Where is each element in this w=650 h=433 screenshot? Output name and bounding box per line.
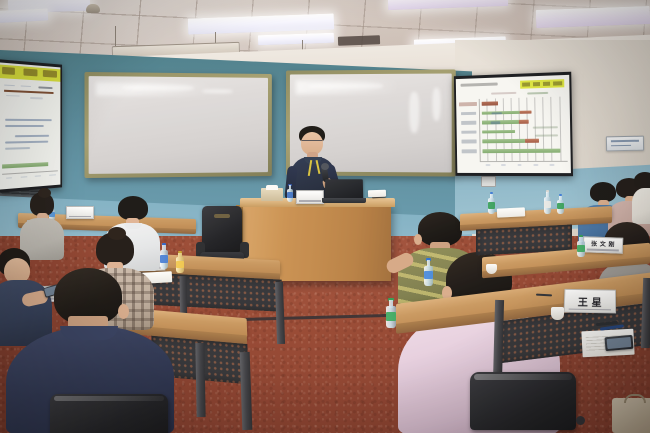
bottle-label bbox=[577, 245, 585, 252]
gantt-tick-label bbox=[486, 164, 490, 165]
bottle-label bbox=[557, 203, 564, 209]
slide-small-text bbox=[4, 84, 14, 86]
gantt-row-label bbox=[461, 149, 476, 153]
gantt-bar bbox=[482, 139, 525, 143]
slide-tick-label bbox=[49, 174, 56, 176]
floor-bag bbox=[612, 398, 650, 433]
smoke-detector-icon bbox=[86, 4, 100, 13]
name-card-subtitle bbox=[587, 249, 619, 252]
whiteboard-glare bbox=[432, 87, 440, 121]
slide-tick-label bbox=[21, 176, 27, 178]
gantt-y-axis bbox=[479, 99, 481, 162]
slide-header-band bbox=[0, 65, 60, 82]
name-card-right: 王 星 bbox=[564, 289, 617, 314]
slide-tick-label bbox=[35, 175, 41, 177]
attendee-collar bbox=[60, 326, 118, 340]
whiteboard-left-surface bbox=[89, 76, 268, 174]
gantt-row-label bbox=[461, 121, 476, 125]
attendee-hair bbox=[418, 212, 462, 246]
chair-caster bbox=[576, 416, 585, 425]
attendee-hair bbox=[118, 196, 148, 220]
gantt-row-label bbox=[461, 130, 476, 134]
slide-rule-bar bbox=[4, 90, 53, 94]
slide-header-segment bbox=[2, 67, 15, 75]
left-projection-screen bbox=[0, 59, 62, 193]
slide-small-text bbox=[38, 86, 52, 89]
gantt-row-label bbox=[461, 140, 476, 144]
slide-body-line bbox=[5, 125, 44, 127]
whiteboard-left bbox=[84, 72, 271, 178]
water-bottle bbox=[386, 298, 396, 328]
bottle-label bbox=[386, 312, 396, 321]
slide-small-text bbox=[21, 85, 31, 87]
classroom-scene: 何 常 bbox=[0, 0, 650, 433]
chair-backrest[interactable] bbox=[202, 206, 242, 252]
gantt-bar-overrun bbox=[519, 120, 529, 124]
attendee-ear bbox=[118, 304, 129, 319]
phone-screen bbox=[607, 337, 631, 350]
left-slide-content bbox=[0, 62, 60, 189]
right-projection-screen bbox=[454, 72, 573, 176]
wall-sign-line bbox=[611, 144, 631, 146]
ceiling-open-tile bbox=[338, 35, 380, 45]
slide-small-text bbox=[30, 97, 43, 99]
fixture-rod bbox=[115, 26, 116, 46]
tissue-sheet bbox=[266, 185, 277, 190]
laptop-screen bbox=[325, 179, 363, 200]
chair-back-handle bbox=[214, 214, 230, 218]
bottle-label bbox=[176, 261, 184, 268]
gantt-bar-overrun bbox=[525, 139, 539, 143]
notebook-back-right bbox=[497, 207, 525, 217]
gantt-bar bbox=[482, 149, 560, 153]
attendee-hair-bun bbox=[108, 227, 126, 240]
name-card-podium bbox=[296, 190, 324, 204]
gantt-annotation bbox=[533, 126, 559, 128]
whiteboard-glare bbox=[201, 89, 233, 94]
name-card-right-text: 王 星 bbox=[578, 293, 603, 308]
slide-body-line bbox=[15, 134, 49, 137]
wall-sign-line bbox=[611, 140, 640, 142]
whiteboard-glare bbox=[309, 83, 383, 89]
floor-bag-strap bbox=[624, 394, 646, 403]
microphone-head-icon bbox=[321, 163, 329, 170]
gantt-bar-callout bbox=[492, 112, 502, 115]
whiteboard-glare bbox=[409, 91, 419, 132]
gantt-legend-swatch bbox=[553, 81, 562, 86]
wall-sign bbox=[606, 136, 644, 152]
gantt-title bbox=[460, 82, 498, 86]
power-outlet-icon bbox=[481, 176, 496, 187]
gantt-legend bbox=[520, 79, 564, 88]
gantt-row-label bbox=[459, 102, 477, 106]
paper-cup bbox=[551, 307, 564, 320]
audience-chair-front-right[interactable] bbox=[458, 372, 588, 433]
water-bottle bbox=[544, 190, 551, 214]
gantt-row-label bbox=[461, 111, 476, 115]
attendee-hair bbox=[634, 172, 650, 189]
water-bottle bbox=[424, 258, 433, 286]
attendee-back-right-b bbox=[632, 172, 650, 224]
slide-small-text bbox=[6, 94, 20, 96]
gantt-legend-swatch bbox=[543, 81, 551, 86]
gantt-x-axis bbox=[480, 161, 567, 162]
bottle-label bbox=[424, 271, 433, 279]
water-bottle bbox=[488, 192, 495, 214]
gantt-bar bbox=[481, 101, 498, 105]
name-card-subtitle bbox=[299, 200, 321, 202]
desk-leg bbox=[195, 343, 205, 417]
name-card-far-left bbox=[66, 206, 94, 219]
slide-tick-label bbox=[6, 177, 12, 179]
juice-bottle bbox=[176, 251, 184, 273]
chair-back-highlight bbox=[54, 396, 164, 401]
gantt-bar-callout bbox=[491, 121, 501, 124]
slide-body-line bbox=[5, 140, 48, 143]
chair-backrest[interactable] bbox=[470, 372, 576, 430]
gantt-annotation bbox=[491, 92, 516, 95]
bottle-label bbox=[287, 192, 293, 197]
slide-body-line bbox=[5, 147, 30, 150]
gantt-tick-label bbox=[517, 164, 522, 165]
attendee-hair-bun bbox=[38, 188, 51, 198]
gantt-tick-label bbox=[533, 164, 538, 165]
chair-back-highlight bbox=[474, 374, 572, 380]
desk-leg bbox=[641, 278, 650, 348]
whiteboard-glare bbox=[122, 84, 194, 91]
slide-header-segment bbox=[24, 69, 37, 77]
name-card-subtitle bbox=[69, 216, 91, 218]
name-card-back-right-text: 张 文 刚 bbox=[591, 242, 615, 249]
attendee-torso bbox=[632, 188, 650, 224]
water-bottle bbox=[557, 194, 564, 214]
bottle-label bbox=[544, 201, 551, 208]
attendee-ear bbox=[414, 234, 422, 245]
gantt-legend-swatch bbox=[533, 82, 541, 87]
gantt-annotation bbox=[535, 134, 558, 136]
presenter-glasses-icon bbox=[302, 140, 322, 145]
water-bottle bbox=[577, 235, 585, 257]
gantt-tick-label bbox=[550, 164, 555, 165]
gantt-tick-label bbox=[501, 164, 506, 165]
gantt-bar-overrun bbox=[520, 110, 532, 114]
gantt-legend-swatch bbox=[523, 82, 530, 87]
slide-progress-bar bbox=[2, 162, 48, 168]
name-card-back-right: 张 文 刚 bbox=[583, 236, 624, 253]
right-slide-content bbox=[456, 75, 571, 173]
phone[interactable] bbox=[604, 335, 633, 351]
laptop-base bbox=[322, 198, 366, 203]
podium-paper bbox=[368, 190, 386, 198]
gantt-annotation bbox=[527, 92, 548, 95]
water-bottle bbox=[287, 184, 293, 202]
bottle-label bbox=[488, 202, 495, 209]
audience-chair-front-left[interactable] bbox=[42, 394, 174, 433]
slide-header-segment bbox=[43, 70, 57, 78]
name-card-subtitle bbox=[569, 308, 611, 310]
tissue-box bbox=[261, 188, 283, 201]
slide-body-line bbox=[5, 118, 52, 121]
